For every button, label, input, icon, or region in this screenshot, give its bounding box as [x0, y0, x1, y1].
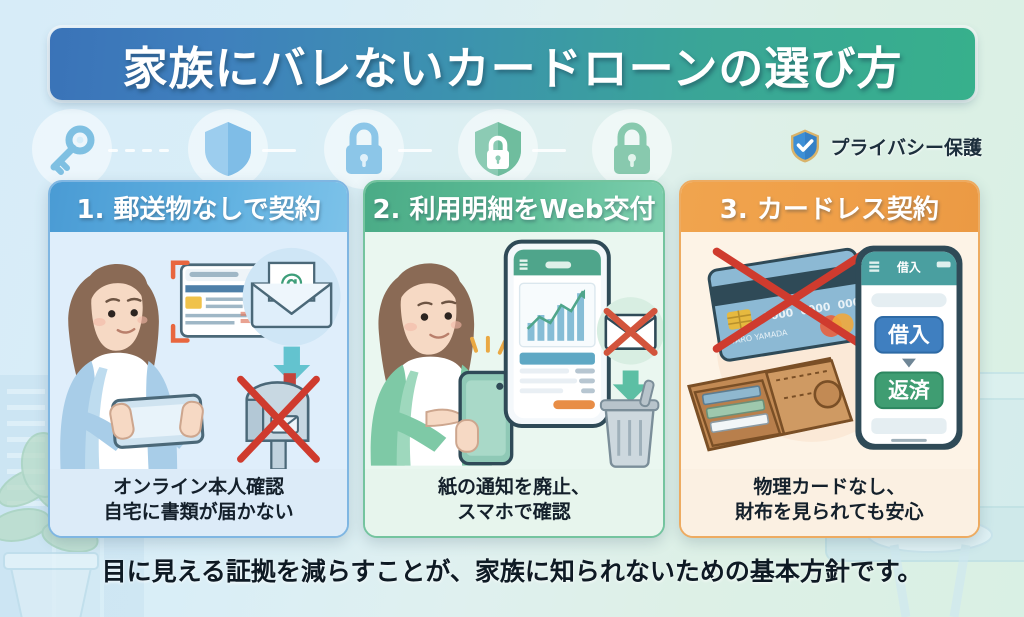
arrow-right-icon	[302, 284, 337, 315]
step-card-1[interactable]: 1. 郵送物なしで契約	[48, 180, 349, 538]
step-card-1-heading: 1. 郵送物なしで契約	[77, 189, 321, 226]
step-card-2-heading: 2. 利用明細をWeb交付	[372, 189, 655, 226]
dash-connector-1	[108, 148, 169, 152]
phone-app: 借入 借入 返済	[855, 246, 962, 450]
infographic-canvas: 家族にバレないカードローンの選び方 プライバシー保護 1. 郵送物なしで契約	[0, 0, 1024, 617]
step-card-1-header: 1. 郵送物なしで契約	[50, 182, 347, 232]
step-card-1-illustration: @	[50, 232, 347, 469]
dash-connector-2	[262, 148, 296, 152]
footer-summary: 目に見える証拠を減らすことが、家族に知られないための基本方針です。	[0, 552, 1024, 588]
privacy-badge-label: プライバシー保護	[830, 133, 982, 160]
lock-icon	[318, 108, 410, 190]
id-card-scan-frame	[173, 263, 296, 341]
dash-connector-4	[532, 148, 566, 152]
step-card-3-caption-line1: 物理カードなし、	[685, 475, 974, 499]
step-card-3-caption-line2: 財布を見られても安心	[685, 500, 974, 524]
envelope-crossed-out	[597, 297, 662, 364]
step-card-2-caption-line2: スマホで確認	[369, 500, 658, 524]
privacy-badge: プライバシー保護	[789, 128, 982, 164]
step-card-2-caption: 紙の通知を廃止、 スマホで確認	[365, 469, 662, 536]
step-card-2-caption-line1: 紙の通知を廃止、	[369, 475, 658, 499]
step-card-2-illustration	[365, 232, 662, 469]
page-title: 家族にバレないカードローンの選び方	[123, 32, 903, 97]
shield-check-icon	[789, 128, 821, 164]
steps-card-row: 1. 郵送物なしで契約	[48, 180, 980, 538]
step-card-3-header: 3. カードレス契約	[681, 182, 978, 232]
lock-icon	[586, 108, 678, 190]
step-card-1-caption-line1: オンライン本人確認	[54, 475, 343, 499]
dash-connector-3	[398, 148, 432, 152]
step-card-2[interactable]: 2. 利用明細をWeb交付	[363, 180, 664, 538]
phone-statement-chart	[506, 242, 609, 426]
sparkle-icon	[472, 338, 505, 353]
phone-app-header: 借入	[896, 260, 921, 274]
key-icon	[26, 108, 118, 190]
step-card-2-header: 2. 利用明細をWeb交付	[365, 182, 662, 232]
step-card-3-illustration: 000000000000 TARO YAMADA	[681, 232, 978, 469]
step-card-3[interactable]: 3. カードレス契約 000000000000	[679, 180, 980, 538]
page-title-banner: 家族にバレないカードローンの選び方	[50, 28, 975, 100]
step-card-1-caption: オンライン本人確認 自宅に書類が届かない	[50, 469, 347, 536]
shield-icon	[182, 108, 274, 190]
phone-app-borrow-button: 借入	[887, 323, 930, 347]
phone-app-repay-button: 返済	[888, 378, 930, 402]
shield-icon	[452, 108, 544, 190]
step-card-3-heading: 3. カードレス契約	[720, 189, 939, 226]
step-card-1-caption-line2: 自宅に書類が届かない	[54, 500, 343, 524]
step-card-3-caption: 物理カードなし、 財布を見られても安心	[681, 469, 978, 536]
woman-using-smartphone	[371, 263, 512, 465]
